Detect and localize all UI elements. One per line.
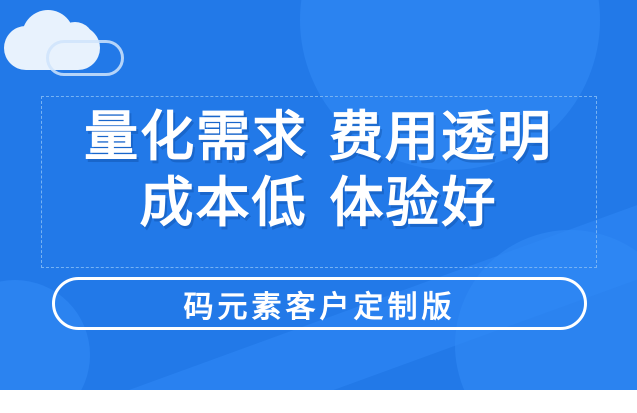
headline-block: 量化需求 费用透明 成本低体验好 <box>0 104 637 236</box>
cta-button[interactable]: 码元素客户定制版 <box>52 277 587 330</box>
headline-line-2: 成本低体验好 <box>0 170 637 236</box>
promo-banner: 量化需求 费用透明 成本低体验好 码元素客户定制版 <box>0 0 637 413</box>
headline-line-2-part-1: 成本低 <box>140 171 308 234</box>
headline-line-2-part-2: 体验好 <box>330 171 498 234</box>
cloud-outline-icon <box>46 40 124 76</box>
headline-line-1: 量化需求 费用透明 <box>0 104 637 170</box>
bottom-strip <box>0 390 637 413</box>
